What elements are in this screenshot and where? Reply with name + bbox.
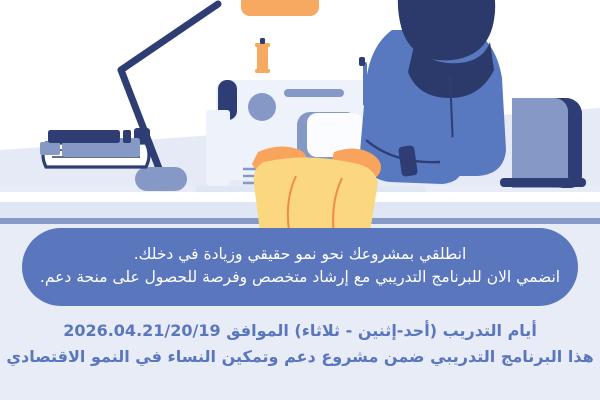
machine-needle-top: [359, 57, 365, 66]
yellow-fabric: [254, 157, 378, 232]
headline-banner: انطلقي بمشروعك نحو نمو حقيقي وزيادة في د…: [22, 228, 578, 306]
banner-line-2: انضمي الان للبرنامج التدريبي مع إرشاد مت…: [40, 266, 560, 289]
book-navy: [48, 130, 120, 143]
machine-dial: [248, 93, 276, 121]
illustration-svg: [0, 0, 600, 232]
lamp-base: [135, 167, 187, 191]
program-description-line: هذا البرنامج التدريبي ضمن مشروع دعم وتمك…: [0, 344, 600, 370]
footer-text-block: أيام التدريب (أحد-إثنين - ثلاثاء) المواف…: [0, 318, 600, 370]
fabric-body: [254, 157, 378, 232]
lamp-shade: [241, 0, 319, 16]
banner-line-1: انطلقي بمشروعك نحو نمو حقيقي وزيادة في د…: [134, 243, 467, 266]
book-navy-edge: [123, 130, 131, 143]
spool-body: [257, 45, 268, 72]
illustration-scene: [0, 0, 600, 232]
spool-pin: [260, 38, 265, 44]
machine-display-bar: [284, 89, 344, 97]
office-chair: [500, 98, 586, 188]
chair-seat-edge: [500, 178, 586, 187]
thread-spool: [255, 38, 270, 73]
poster-root: انطلقي بمشروعك نحو نمو حقيقي وزيادة في د…: [0, 0, 600, 400]
training-dates-line: أيام التدريب (أحد-إثنين - ثلاثاء) المواف…: [0, 318, 600, 344]
spool-bottom-flange: [255, 69, 270, 73]
book-gray-spine: [40, 142, 60, 155]
machine-left-column: [206, 110, 230, 186]
